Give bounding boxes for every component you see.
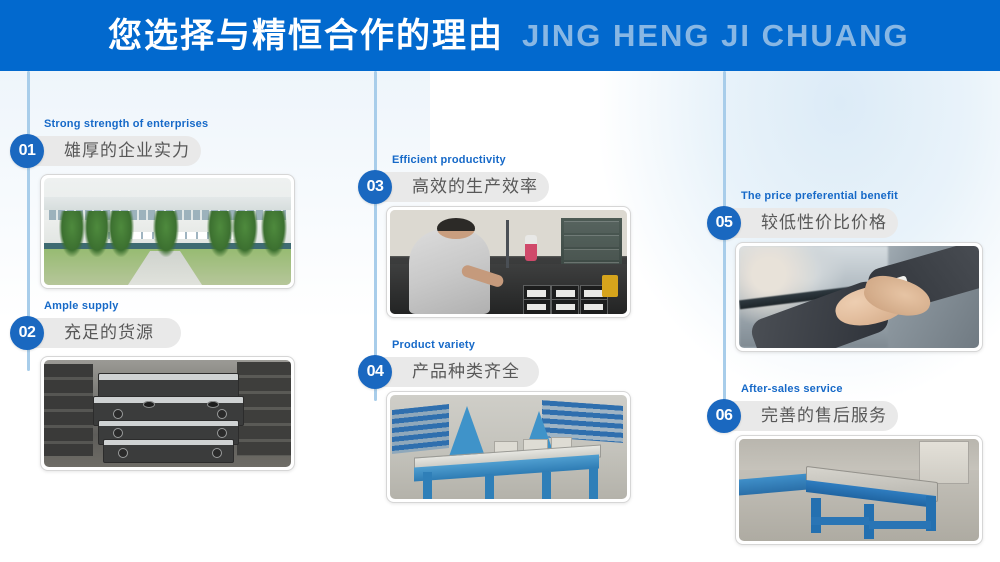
feature-badge-06: 06: [707, 399, 741, 433]
feature-photo-03[interactable]: [386, 206, 631, 318]
feature-pill-06: 完善的售后服务: [723, 401, 898, 431]
feature-pill-02: 充足的货源: [26, 318, 181, 348]
feature-tag-row-03: 高效的生产效率 03: [358, 170, 548, 204]
feature-badge-04: 04: [358, 355, 392, 389]
feature-label-cn-01: 雄厚的企业实力: [64, 143, 190, 160]
handshake-image: [739, 246, 979, 348]
timeline-line-column-3: [723, 71, 726, 431]
feature-label-cn-04: 产品种类齐全: [412, 364, 520, 381]
feature-label-en-05: The price preferential benefit: [741, 190, 898, 202]
worker-bench-image: [390, 210, 627, 314]
page-header: 您选择与精恒合作的理由 JING HENG JI CHUANG: [0, 0, 1000, 71]
feature-label-en-01: Strong strength of enterprises: [44, 118, 208, 130]
feature-label-en-02: Ample supply: [44, 300, 119, 312]
feature-badge-02: 02: [10, 316, 44, 350]
feature-label-en-06: After-sales service: [741, 383, 843, 395]
feature-photo-06[interactable]: [735, 435, 983, 545]
feature-tag-row-02: 充足的货源 02: [10, 316, 200, 350]
feature-label-cn-06: 完善的售后服务: [761, 408, 887, 425]
feature-label-en-04: Product variety: [392, 339, 475, 351]
feature-badge-05: 05: [707, 206, 741, 240]
feature-tag-row-06: 完善的售后服务 06: [707, 399, 897, 433]
feature-photo-02[interactable]: [40, 356, 295, 471]
factory-building-image: [44, 178, 291, 285]
feature-tag-row-05: 较低性价比价格 05: [707, 206, 897, 240]
feature-label-en-03: Efficient productivity: [392, 154, 506, 166]
surface-plate-table-image: [739, 439, 979, 541]
feature-badge-03: 03: [358, 170, 392, 204]
feature-photo-04[interactable]: [386, 391, 631, 503]
feature-tag-row-01: 雄厚的企业实力 01: [10, 134, 200, 168]
feature-label-cn-02: 充足的货源: [64, 325, 154, 342]
granite-plates-image: [44, 360, 291, 467]
feature-photo-05[interactable]: [735, 242, 983, 352]
page-title-en: JING HENG JI CHUANG: [522, 20, 910, 51]
feature-pill-01: 雄厚的企业实力: [26, 136, 201, 166]
feature-pill-05: 较低性价比价格: [723, 208, 898, 238]
feature-badge-01: 01: [10, 134, 44, 168]
feature-pill-03: 高效的生产效率: [374, 172, 549, 202]
page-title-cn: 您选择与精恒合作的理由: [108, 19, 504, 53]
feature-label-cn-03: 高效的生产效率: [412, 179, 538, 196]
feature-label-cn-05: 较低性价比价格: [761, 215, 887, 232]
timeline-line-column-2: [374, 71, 377, 401]
feature-tag-row-04: 产品种类齐全 04: [358, 355, 548, 389]
feature-photo-01[interactable]: [40, 174, 295, 289]
feature-pill-04: 产品种类齐全: [374, 357, 539, 387]
blue-workbenches-image: [390, 395, 627, 499]
promo-banner: 您选择与精恒合作的理由 JING HENG JI CHUANG Strong s…: [0, 0, 1000, 562]
